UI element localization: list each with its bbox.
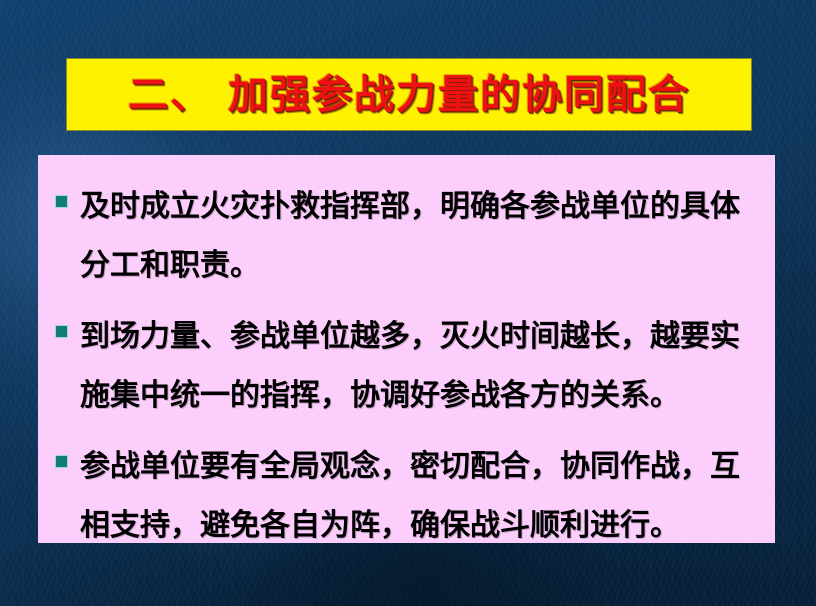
bullet-item: 到场力量、参战单位越多，灭火时间越长，越要实施集中统一的指挥，协调好参战各方的关… <box>46 307 757 425</box>
bullet-item-text: 参战单位要有全局观念，密切配合，协同作战，互相支持，避免各自为阵，确保战斗顺利进… <box>80 437 757 555</box>
bullet-item: 参战单位要有全局观念，密切配合，协同作战，互相支持，避免各自为阵，确保战斗顺利进… <box>46 437 757 555</box>
presentation-slide: 二、 加强参战力量的协同配合 及时成立火灾扑救指挥部，明确各参战单位的具体分工和… <box>0 0 816 606</box>
bullet-item-text: 及时成立火灾扑救指挥部，明确各参战单位的具体分工和职责。 <box>80 177 757 295</box>
square-bullet-icon <box>55 195 68 208</box>
bullet-item: 及时成立火灾扑救指挥部，明确各参战单位的具体分工和职责。 <box>46 177 757 295</box>
slide-title-banner: 二、 加强参战力量的协同配合 <box>66 58 752 131</box>
square-bullet-icon <box>55 455 68 468</box>
bullet-item-text: 到场力量、参战单位越多，灭火时间越长，越要实施集中统一的指挥，协调好参战各方的关… <box>80 307 757 425</box>
square-bullet-icon <box>55 325 68 338</box>
slide-content-panel: 及时成立火灾扑救指挥部，明确各参战单位的具体分工和职责。 到场力量、参战单位越多… <box>38 155 775 543</box>
slide-title-text: 二、 加强参战力量的协同配合 <box>128 75 690 115</box>
